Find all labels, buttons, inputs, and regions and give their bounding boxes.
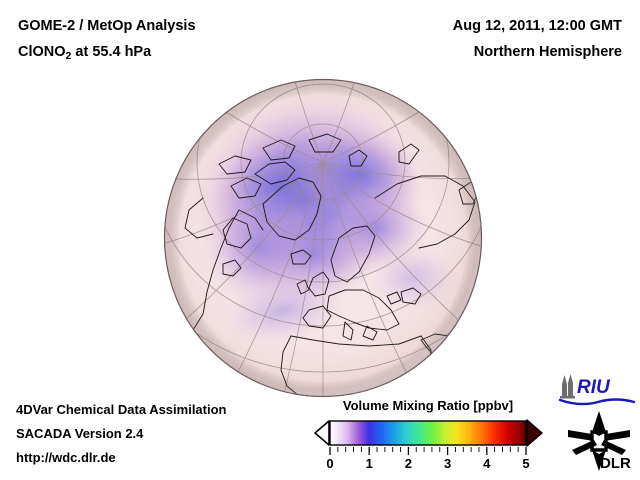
colorbar-title: Volume Mixing Ratio [ppbv] [312, 398, 544, 413]
colorbar-minor-ticks [338, 447, 518, 452]
colorbar-tick-label: 5 [522, 456, 529, 470]
footer-url-link[interactable]: http://wdc.dlr.de [16, 450, 116, 465]
riu-swoosh-icon [560, 400, 634, 405]
species-formula-suffix: at 55.4 hPa [71, 44, 151, 60]
cathedral-icon [560, 374, 575, 399]
footer-version-label: SACADA Version 2.4 [16, 426, 143, 441]
page-title-species: ClONO2 at 55.4 hPa [18, 44, 151, 62]
hemisphere-label: Northern Hemisphere [474, 44, 622, 60]
colorbar-tick-label: 0 [326, 456, 333, 470]
species-formula-prefix: ClONO [18, 44, 66, 60]
colorbar-tick-label: 3 [444, 456, 451, 470]
colorbar-gradient [330, 421, 526, 445]
colorbar-max-cap-icon [527, 420, 542, 446]
colorbar-min-cap-icon [315, 421, 329, 445]
colorbar-tick-label: 1 [366, 456, 373, 470]
page-title-instrument: GOME-2 / MetOp Analysis [18, 18, 196, 34]
dlr-logo: DLR [566, 410, 632, 472]
colorbar-tick-label: 2 [405, 456, 412, 470]
timestamp-label: Aug 12, 2011, 12:00 GMT [453, 18, 622, 34]
footer-method-label: 4DVar Chemical Data Assimilation [16, 402, 227, 417]
colorbar: Volume Mixing Ratio [ppbv] [312, 398, 544, 470]
riu-wordmark: RIU [577, 377, 611, 398]
limb-shading [164, 79, 482, 397]
globe-map [163, 78, 483, 398]
riu-logo: RIU [558, 372, 636, 406]
colorbar-ticks [330, 447, 526, 455]
colorbar-tick-label: 4 [483, 456, 491, 470]
dlr-wordmark: DLR [600, 455, 631, 472]
